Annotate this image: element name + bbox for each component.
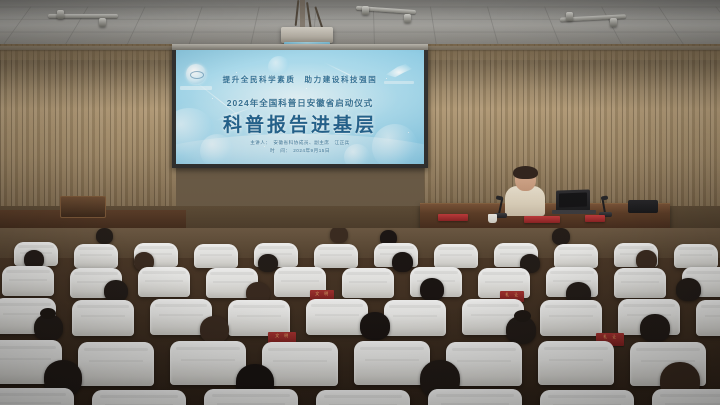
presenter-hair: [513, 166, 538, 179]
red-table-item: [585, 215, 605, 222]
slide-banner-text: 提升全民科学素质 助力建设科技强国: [176, 74, 424, 85]
seat: [314, 244, 358, 268]
seat: [72, 300, 134, 336]
seat: [540, 300, 602, 336]
seat: [194, 244, 238, 268]
slide-sparkle: [236, 72, 237, 73]
seat-plaque-text: 文 明: [310, 290, 334, 296]
attendee-hair-bun: [514, 310, 531, 322]
seat: [652, 389, 720, 405]
red-table-item: [438, 214, 468, 221]
seat: [316, 390, 410, 405]
confidence-monitor: [628, 200, 658, 213]
attendee-head: [104, 280, 128, 302]
attendee-head: [330, 228, 348, 243]
attendee-hair-bun: [40, 308, 56, 319]
seat: [342, 268, 394, 298]
seat: [2, 266, 54, 296]
attendee-head: [636, 250, 657, 270]
lecture-hall-photo: 提升全民科学素质 助力建设科技强国 2024年全国科普日安徽省启动仪式 科普报告…: [0, 0, 720, 405]
slide-meta-line-1: 主讲人： 安徽省科协成员、副主席 江正兵: [176, 139, 424, 146]
attendee-head: [420, 278, 444, 301]
slide-subtitle: 2024年全国科普日安徽省启动仪式: [176, 97, 424, 109]
projector-mount: [300, 0, 305, 28]
track-light-head: [566, 12, 573, 21]
drinking-cup: [488, 214, 497, 223]
seat: [354, 341, 430, 385]
attendee-head: [96, 228, 113, 244]
seat: [306, 299, 368, 335]
seat: [228, 300, 290, 336]
seat: [78, 342, 154, 386]
seat: [92, 390, 186, 405]
seat: [0, 388, 74, 405]
attendee-head: [360, 312, 390, 340]
seat: [674, 244, 718, 268]
slide-sparkle: [306, 88, 307, 89]
seat-plaque-text: 礼 让: [596, 333, 624, 339]
attendee-head: [258, 254, 278, 272]
attendee-head: [200, 316, 229, 343]
seat: [428, 389, 522, 405]
seat: [538, 341, 614, 385]
track-light-head: [362, 6, 369, 15]
attendee-head: [392, 252, 413, 272]
slide-title: 科普报告进基层: [176, 110, 424, 137]
seat: [138, 267, 190, 297]
red-table-item: [524, 216, 560, 223]
seat: [170, 341, 246, 385]
stage-chair: [60, 196, 106, 218]
seat-plaque-text: 文 明: [268, 332, 296, 338]
curtain-valance: [424, 44, 720, 60]
seat: [204, 389, 298, 405]
track-light-head: [57, 10, 64, 19]
audience-area: 文 明 礼 让 文 明 礼 让: [0, 228, 720, 405]
projection-screen: 提升全民科学素质 助力建设科技强国 2024年全国科普日安徽省启动仪式 科普报告…: [176, 50, 424, 164]
seat: [696, 300, 720, 336]
ceiling: [0, 0, 720, 46]
curtain-valance: [0, 44, 176, 60]
track-light-head: [610, 18, 617, 27]
seat: [554, 244, 598, 268]
seat: [614, 268, 666, 298]
laptop-base: [552, 210, 596, 214]
ceiling-projector: [281, 27, 333, 43]
seat-plaque-text: 礼 让: [500, 291, 524, 297]
seat: [540, 390, 634, 405]
seat: [434, 244, 478, 268]
seat: [74, 244, 118, 268]
attendee-head: [640, 314, 670, 342]
slide-logo-left-caption: [180, 86, 212, 90]
seat: [384, 300, 446, 336]
attendee-head: [552, 228, 570, 245]
slide-meta-line-2: 时 间： 2024年9月15日: [176, 147, 424, 154]
attendee-head: [676, 278, 701, 301]
track-light-head: [99, 18, 106, 27]
track-light-head: [404, 14, 411, 23]
